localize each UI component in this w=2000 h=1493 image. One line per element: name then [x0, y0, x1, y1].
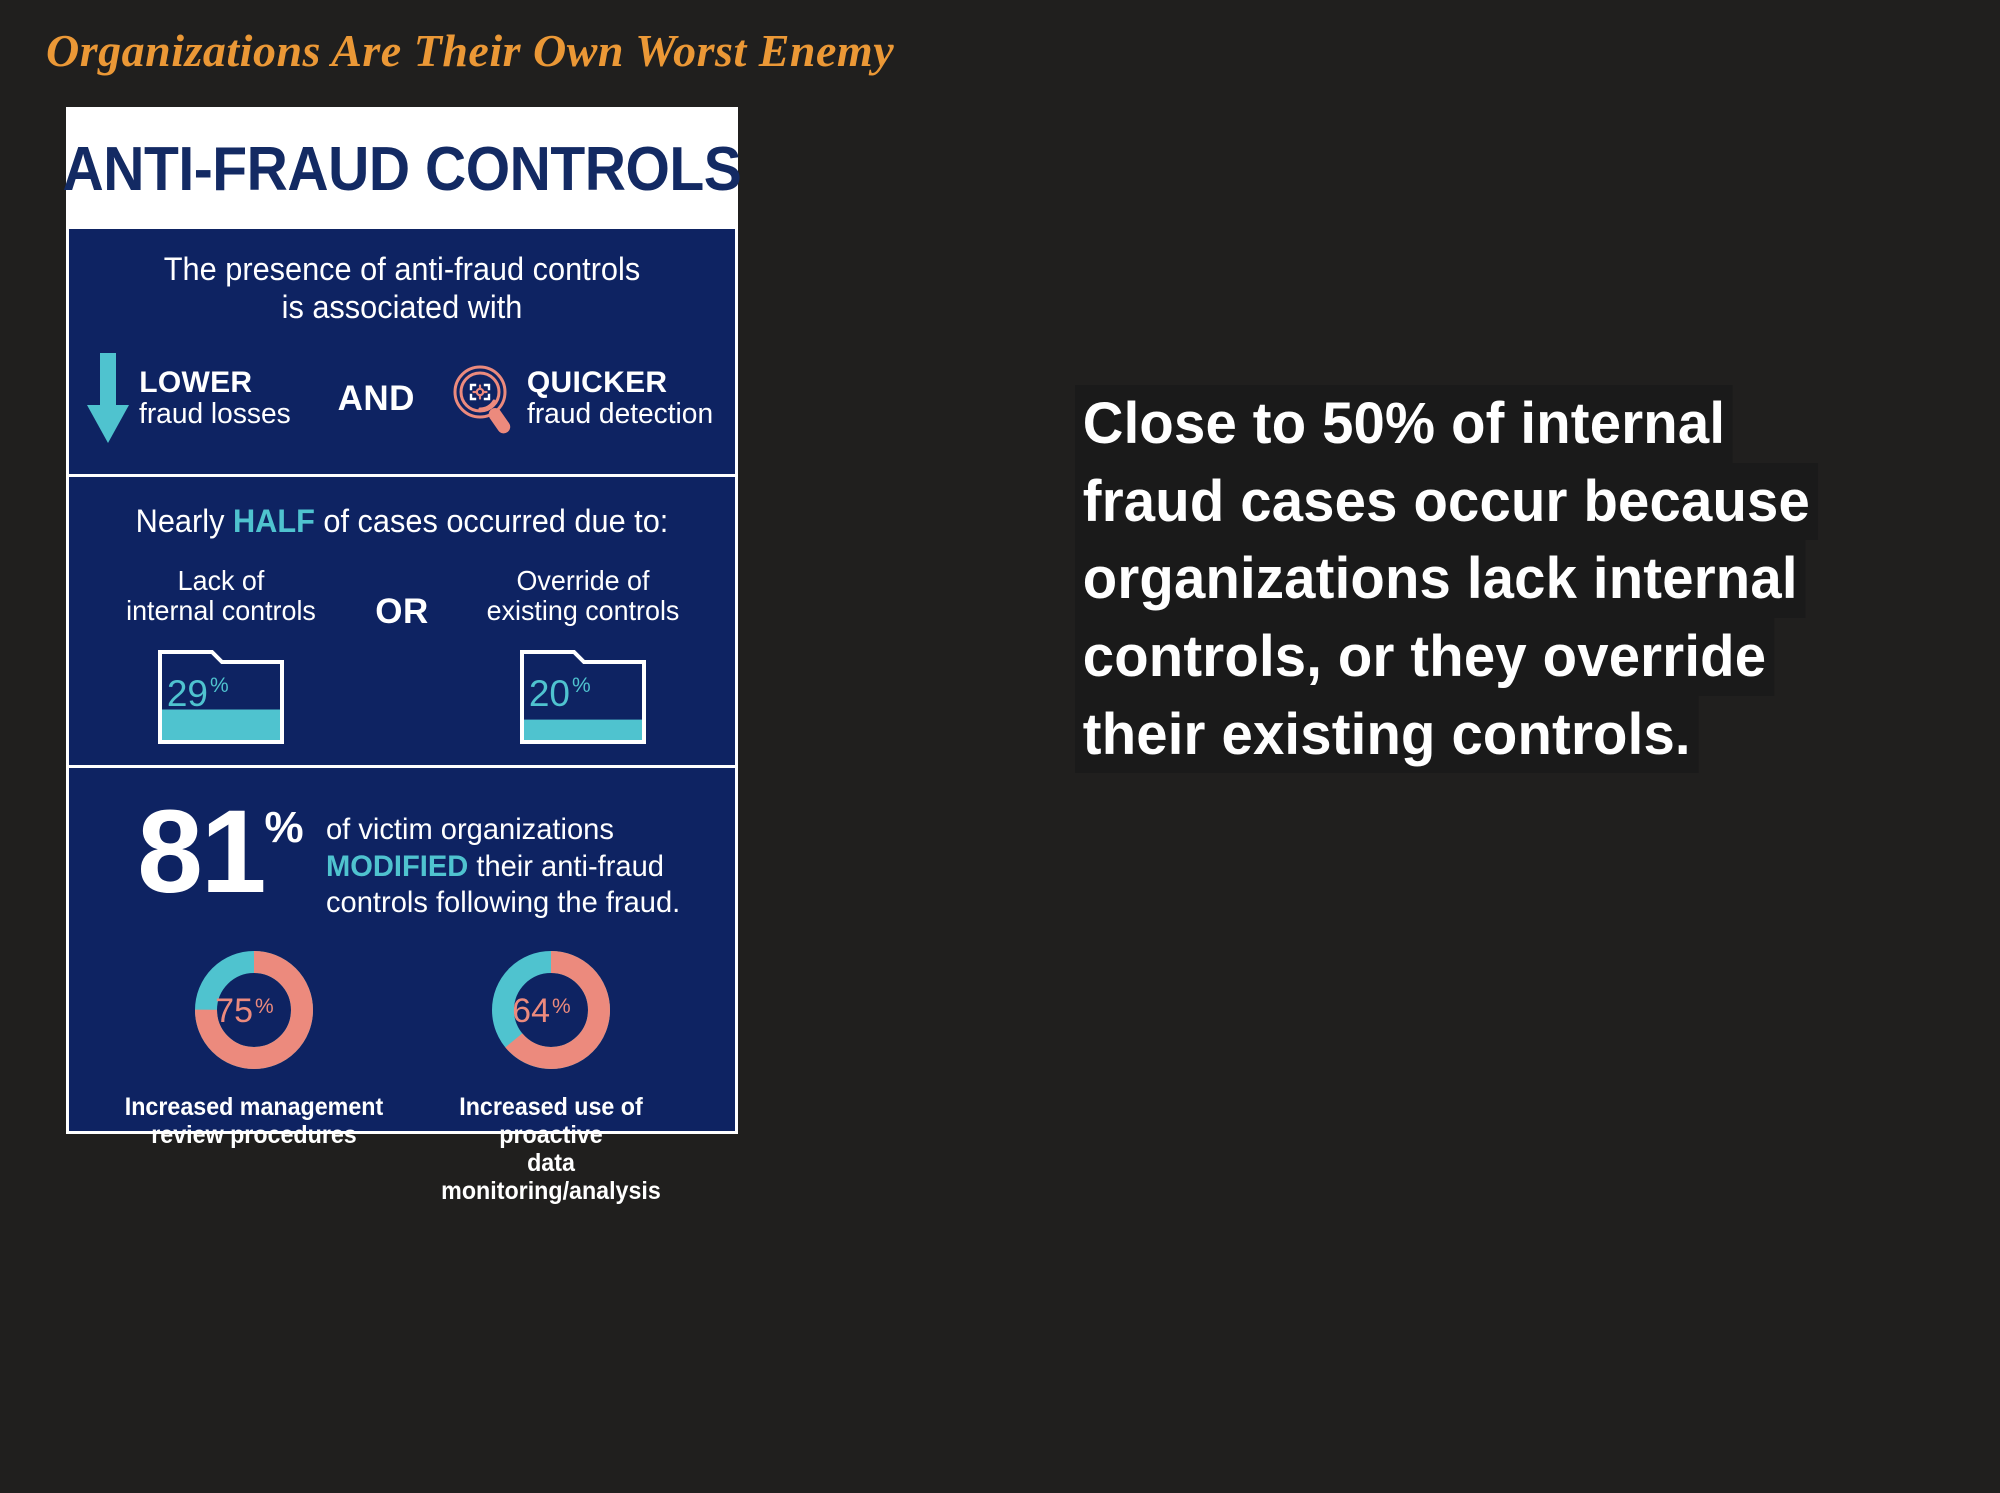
causes-lead: Nearly HALF of cases occurred due to: [96, 503, 708, 540]
callout-line: organizations lack internal [1075, 540, 1805, 618]
conjunction-or: OR [375, 566, 429, 632]
benefit-row: LOWER fraud losses AND [83, 353, 721, 445]
cause-lack-of-internal-controls: Lack of internal controls 29 % [101, 566, 341, 746]
donut-value-75: 75 [215, 992, 253, 1030]
anti-fraud-controls-infographic: ANTI-FRAUD CONTROLS The presence of anti… [66, 107, 738, 1134]
benefit-lower-sub: fraud losses [139, 399, 291, 430]
benefit-quicker-sub: fraud detection [527, 399, 713, 430]
donut-symbol-64: % [552, 995, 571, 1018]
donut-2-caption-line-1: Increased use of proactive [420, 1093, 680, 1149]
callout-text-block: Close to 50% of internal fraud cases occ… [1075, 385, 1935, 773]
big-stat-row: 81 % of victim organizations MODIFIED th… [83, 798, 721, 922]
folder-symbol-20: % [572, 674, 591, 697]
infographic-header: ANTI-FRAUD CONTROLS [69, 110, 735, 229]
causes-row: Lack of internal controls 29 % [83, 566, 721, 746]
folder-gauge-20: 20 % [518, 648, 648, 746]
causes-lead-suffix: of cases occurred due to: [315, 503, 668, 539]
folder-value-29: 29 [167, 673, 208, 714]
causes-lead-accent: HALF [233, 503, 315, 539]
big-stat-line-3: controls following the fraud. [326, 885, 680, 922]
big-stat-description: of victim organizations MODIFIED their a… [326, 798, 680, 922]
donut-2-caption-line-2: data monitoring/analysis [420, 1149, 680, 1205]
callout-line: fraud cases occur because [1075, 463, 1818, 541]
benefit-lower-strong: LOWER [139, 367, 295, 399]
folder-gauge-29: 29 % [156, 648, 286, 746]
callout-line: Close to 50% of internal [1075, 385, 1733, 463]
benefit-quicker-strong: QUICKER [527, 367, 719, 399]
big-stat-accent: MODIFIED [326, 850, 468, 883]
down-arrow-icon [85, 353, 131, 445]
section-presence-of-controls: The presence of anti-fraud controls is a… [69, 229, 735, 474]
presence-lead-line-2: is associated with [96, 289, 708, 327]
folder-symbol-29: % [210, 674, 229, 697]
big-stat-line-2: MODIFIED their anti-fraud [326, 849, 680, 886]
cause-2-label-line-1: Override of [468, 566, 698, 596]
callout-line: their existing controls. [1075, 696, 1699, 774]
cause-override-of-existing-controls: Override of existing controls 20 % [463, 566, 703, 746]
presence-lead-line-1: The presence of anti-fraud controls [96, 251, 708, 289]
donut-1-caption-line-2: review procedures [123, 1121, 383, 1149]
infographic-header-title: ANTI-FRAUD CONTROLS [63, 134, 742, 205]
donut-increased-management-review: 75 % Increased management review procedu… [114, 946, 394, 1205]
section-modified-controls: 81 % of victim organizations MODIFIED th… [69, 768, 735, 1205]
big-stat-line-1: of victim organizations [326, 812, 680, 849]
causes-lead-prefix: Nearly [136, 503, 233, 539]
cause-1-label-line-2: internal controls [106, 596, 336, 626]
donut-1-caption-line-1: Increased management [123, 1093, 383, 1121]
donut-chart-64: 64 % [487, 946, 615, 1074]
section-causes: Nearly HALF of cases occurred due to: La… [69, 477, 735, 765]
conjunction-and: AND [338, 379, 415, 419]
donut-chart-75: 75 % [190, 946, 318, 1074]
benefit-quicker-fraud-detection: QUICKER fraud detection [449, 363, 719, 435]
donut-value-64: 64 [512, 992, 550, 1030]
benefit-lower-fraud-losses: LOWER fraud losses [85, 353, 295, 445]
big-stat-line-2-suffix: their anti-fraud [468, 850, 664, 883]
donut-symbol-75: % [255, 995, 274, 1018]
callout-line: controls, or they override [1075, 618, 1774, 696]
big-stat-number: 81 [137, 798, 264, 907]
folder-value-20: 20 [529, 673, 570, 714]
donut-increased-data-monitoring: 64 % Increased use of proactive data mon… [411, 946, 691, 1205]
cause-2-label-line-2: existing controls [468, 596, 698, 626]
big-stat-symbol: % [264, 798, 303, 850]
donut-row: 75 % Increased management review procedu… [83, 946, 721, 1205]
magnifying-glass-icon [449, 363, 515, 435]
slide-title: Organizations Are Their Own Worst Enemy [46, 24, 894, 77]
cause-1-label-line-1: Lack of [106, 566, 336, 596]
